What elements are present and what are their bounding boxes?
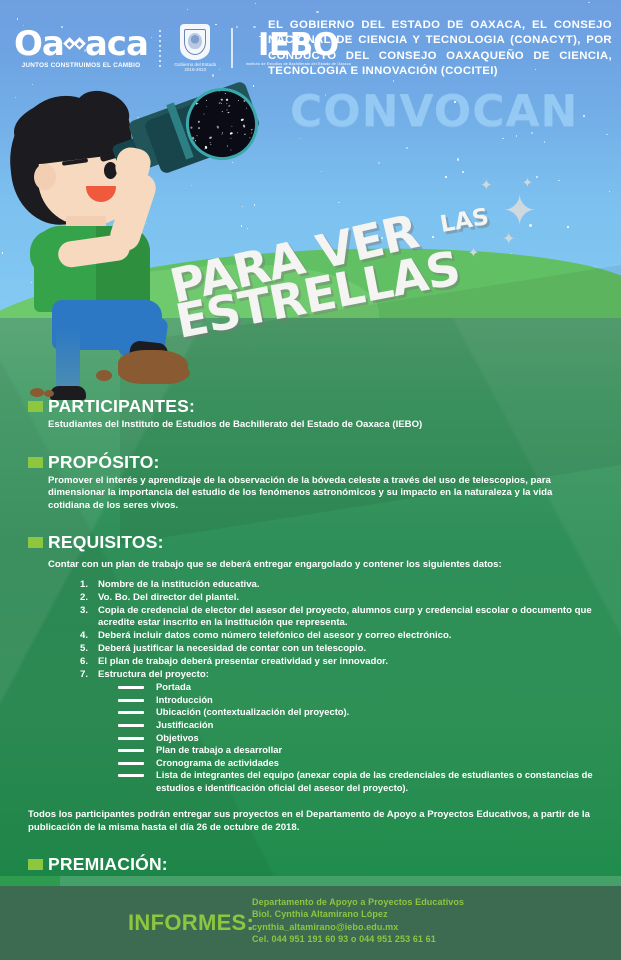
requirements-list: Nombre de la institución educativa.Vo. B… (80, 579, 593, 795)
structure-item: Cronograma de actividades (112, 757, 593, 770)
lens-star-icon (216, 126, 219, 129)
bullet-marker-icon (28, 537, 43, 548)
dot-divider-icon (155, 30, 165, 67)
contact-department: Departamento de Apoyo a Proyectos Educat… (252, 896, 464, 908)
requirement-item: Nombre de la institución educativa. (80, 579, 593, 591)
section-heading: PARTICIPANTES: (28, 396, 593, 417)
lens-star-icon (242, 125, 245, 128)
lens-star-icon (192, 137, 195, 140)
oaxaca-wordmark: Oa aca (14, 28, 148, 60)
lens-star-icon (237, 100, 239, 102)
oaxaca-word-part-b: aca (85, 28, 148, 60)
star-icon (544, 141, 545, 142)
gobierno-oaxaca-logo: Gobierno del Estado 2016-2022 (172, 24, 218, 73)
lens-star-icon (224, 93, 226, 95)
section-title: PARTICIPANTES: (48, 396, 195, 417)
structure-item: Portada (112, 681, 593, 694)
requirement-item: Deberá justificar la necesidad de contar… (80, 643, 593, 655)
contact-name: Biol. Cynthia Altamirano López (252, 908, 464, 920)
section-proposito: PROPÓSITO: Promover el interés y aprendi… (0, 452, 621, 513)
lens-star-icon (198, 149, 200, 151)
bullet-marker-icon (28, 859, 43, 870)
lens-star-icon (228, 112, 230, 114)
oaxaca-word-part-a: Oa (14, 28, 64, 60)
lens-star-icon (206, 106, 208, 108)
star-icon (316, 11, 318, 13)
bullet-marker-icon (28, 401, 43, 412)
lens-star-icon (241, 96, 244, 99)
lens-star-icon (235, 91, 237, 93)
bullet-marker-icon (28, 457, 43, 468)
lens-star-icon (251, 129, 253, 131)
leg-left (56, 328, 80, 394)
lens-star-icon (194, 141, 196, 143)
structure-item: Ubicación (contextualización del proyect… (112, 706, 593, 719)
star-icon (606, 134, 607, 135)
gobierno-logo-caption: Gobierno del Estado 2016-2022 (172, 62, 218, 73)
lens-star-icon (237, 132, 239, 134)
section-heading: PROPÓSITO: (28, 452, 593, 473)
lens-star-icon (250, 137, 252, 139)
star-icon (253, 85, 254, 86)
lens-star-icon (241, 118, 244, 121)
oaxaca-tagline: JUNTOS CONSTRUIMOS EL CAMBIO (22, 62, 141, 69)
title-word-las: LAS (438, 204, 491, 238)
rock-small (168, 366, 190, 380)
footer-top-strip (0, 876, 621, 886)
star-icon (212, 74, 214, 76)
sparkle-icon: ✦ (502, 232, 515, 248)
ear (34, 164, 56, 190)
informes-label: INFORMES: (128, 910, 254, 936)
star-icon (406, 147, 407, 148)
structure-item: Plan de trabajo a desarrollar (112, 744, 593, 757)
lens-star-icon (246, 108, 248, 110)
lens-star-icon (226, 145, 228, 147)
lens-star-icon (218, 91, 220, 93)
lens-star-icon (230, 132, 233, 135)
lens-star-icon (221, 133, 223, 135)
lens-star-icon (230, 138, 232, 140)
contact-phones: Cel. 044 951 191 60 93 o 044 951 253 61 … (252, 933, 464, 945)
lens-star-icon (243, 100, 246, 103)
project-structure-list: PortadaIntroducciónUbicación (contextual… (112, 681, 593, 794)
lens-star-icon (197, 121, 200, 124)
lens-star-icon (231, 126, 233, 128)
structure-item: Introducción (112, 694, 593, 707)
poster-canvas: Oa aca JUNTOS CONSTRUIMOS EL CAMBIO Gobi… (0, 0, 621, 960)
lens-star-icon (191, 127, 193, 129)
deadline-note: Todos los participantes podrán entregar … (28, 809, 593, 834)
main-title: PARA VER LAS ESTRELLAS ✦ ✦ ✦ ✦ ✦ (150, 176, 610, 326)
lens-star-icon (210, 144, 212, 146)
lens-star-icon (250, 132, 252, 134)
requirement-item: Vo. Bo. Del director del plantel. (80, 592, 593, 604)
section-heading: REQUISITOS: (28, 532, 593, 553)
contact-email[interactable]: cynthia_altamirano@iebo.edu.mx (252, 921, 464, 933)
lens-star-icon (222, 99, 224, 101)
lens-star-icon (197, 127, 200, 130)
lens-star-icon (206, 99, 208, 101)
lens-star-icon (222, 111, 224, 113)
structure-item: Objetivos (112, 732, 593, 745)
lens-star-icon (226, 99, 228, 101)
structure-item: Lista de integrantes del equipo (anexar … (112, 769, 593, 794)
convocan-heading: CONVOCAN (290, 86, 578, 137)
footer-band: INFORMES: Departamento de Apoyo a Proyec… (0, 884, 621, 960)
section-lead-text: Contar con un plan de trabajo que se deb… (48, 559, 593, 572)
section-text: Promover el interés y aprendizaje de la … (48, 475, 593, 513)
coat-of-arms-icon (180, 24, 210, 60)
sparkle-icon: ✦ (480, 178, 493, 193)
logo-divider (231, 28, 232, 68)
requirement-item: Deberá incluir datos como número telefón… (80, 630, 593, 642)
oaxaca-diamond-icon (65, 39, 84, 48)
requirement-item: El plan de trabajo deberá presentar crea… (80, 656, 593, 668)
lens-star-icon (226, 103, 228, 105)
section-title: PROPÓSITO: (48, 452, 160, 473)
section-heading: PREMIACIÓN: (28, 854, 593, 875)
lens-star-icon (209, 136, 212, 139)
convoking-institutions-text: EL GOBIERNO DEL ESTADO DE OAXACA, EL CON… (268, 18, 612, 80)
lens-star-icon (231, 91, 233, 93)
lens-star-icon (197, 103, 199, 105)
structure-item: Justificación (112, 719, 593, 732)
lens-star-icon (196, 135, 198, 137)
section-text: Estudiantes del Instituto de Estudios de… (48, 419, 593, 432)
section-requisitos: REQUISITOS: Contar con un plan de trabaj… (0, 532, 621, 794)
oaxaca-logo: Oa aca JUNTOS CONSTRUIMOS EL CAMBIO (14, 28, 148, 69)
sparkle-icon: ✦ (522, 176, 533, 189)
rock-small (96, 370, 112, 381)
lens-star-icon (194, 139, 196, 141)
section-participantes: PARTICIPANTES: Estudiantes del Instituto… (0, 396, 621, 432)
lens-star-icon (230, 149, 232, 151)
section-title: PREMIACIÓN: (48, 854, 168, 875)
sparkle-icon: ✦ (468, 246, 479, 259)
section-title: REQUISITOS: (48, 532, 164, 553)
lens-star-icon (229, 106, 231, 108)
lens-star-icon (244, 134, 246, 136)
lens-star-icon (203, 113, 205, 115)
lens-star-icon (226, 109, 228, 111)
requirement-item: Estructura del proyecto:PortadaIntroducc… (80, 669, 593, 795)
requirement-item: Copia de credencial de elector del aseso… (80, 605, 593, 630)
contact-block: Departamento de Apoyo a Proyectos Educat… (252, 896, 464, 946)
sparkle-icon: ✦ (502, 190, 537, 232)
